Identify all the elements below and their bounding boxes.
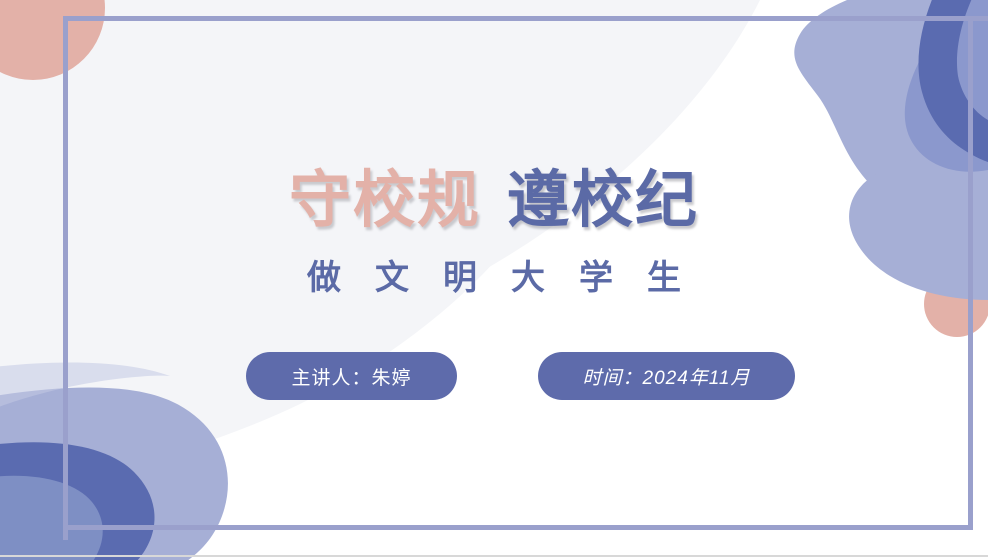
- date-pill-label: 时间：2024年11月: [583, 363, 751, 390]
- slide-title: 守校规遵校纪: [0, 168, 988, 233]
- slide-subtitle: 做文明大学生: [0, 250, 988, 299]
- speaker-pill: 主讲人：朱婷: [246, 352, 457, 400]
- date-pill: 时间：2024年11月: [538, 352, 795, 400]
- speaker-pill-label: 主讲人：朱婷: [291, 363, 411, 390]
- slide-content: 守校规遵校纪 做文明大学生 主讲人：朱婷 时间：2024年11月: [0, 0, 988, 560]
- title-main-text: 遵校纪: [507, 166, 699, 235]
- title-accent-text: 守校规: [289, 166, 481, 235]
- presentation-slide: 守校规遵校纪 做文明大学生 主讲人：朱婷 时间：2024年11月: [0, 0, 988, 560]
